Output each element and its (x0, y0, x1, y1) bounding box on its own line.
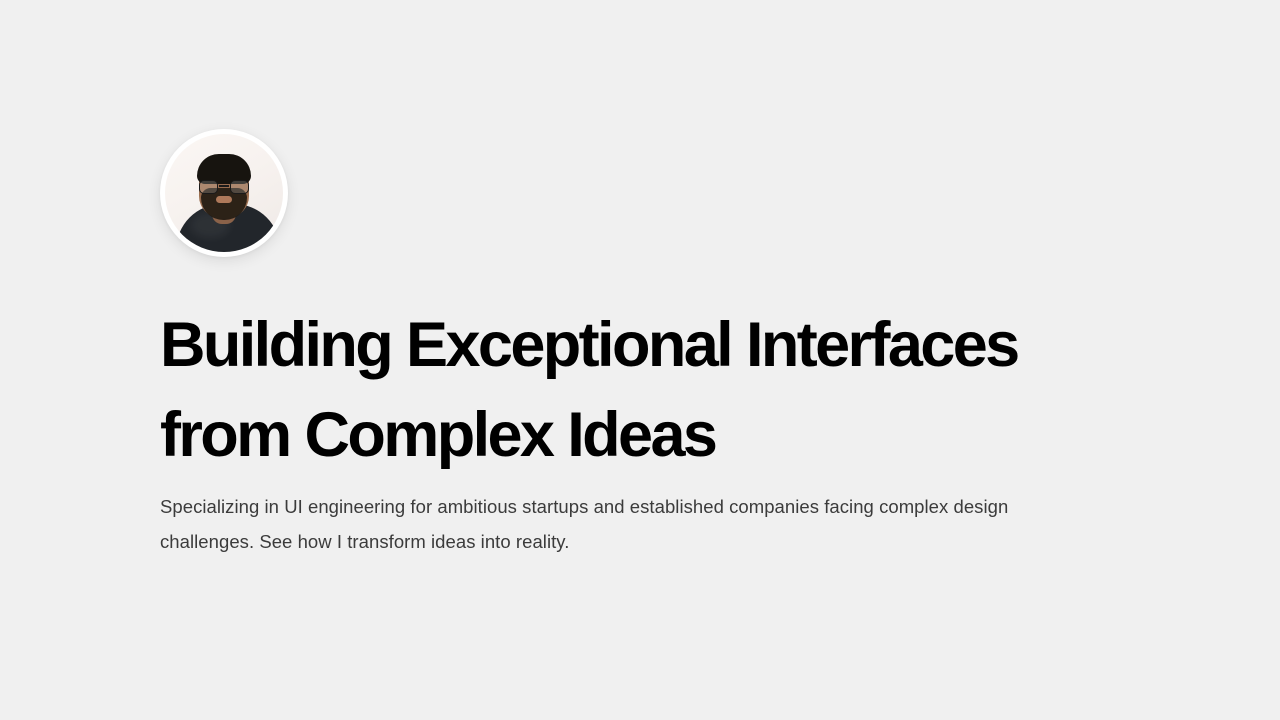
avatar-photo (165, 134, 283, 252)
hero-subtitle: Specializing in UI engineering for ambit… (160, 489, 1105, 559)
hero-section: Building Exceptional Interfaces from Com… (0, 0, 1280, 720)
portrait-illustration (165, 134, 283, 252)
glasses-right-lens-icon (230, 180, 249, 194)
headline-line-2: from Complex Ideas (160, 390, 1120, 480)
avatar (160, 129, 288, 257)
page-title: Building Exceptional Interfaces from Com… (160, 300, 1120, 480)
glasses-bridge-icon (219, 185, 229, 187)
portrait-glasses-icon (198, 180, 250, 194)
glasses-left-lens-icon (199, 180, 218, 194)
headline-line-1: Building Exceptional Interfaces (160, 300, 1120, 390)
